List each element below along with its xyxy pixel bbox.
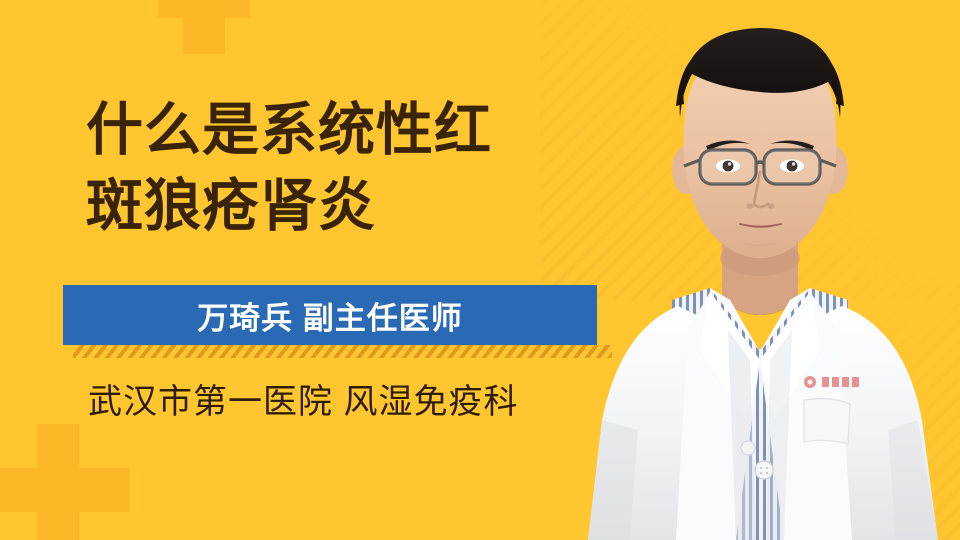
cross-vertical-bar xyxy=(183,0,225,54)
banner-hatch-decoration xyxy=(73,345,612,358)
hospital-logo-on-coat xyxy=(804,376,859,388)
page-title: 什么是系统性红 斑狼疮肾炎 xyxy=(86,92,606,244)
doctor-name-text: 万琦兵 副主任医师 xyxy=(197,293,463,338)
cross-horizontal-bar xyxy=(0,468,130,512)
diagonal-stripes-decoration-lower xyxy=(760,240,960,540)
title-line-1: 什么是系统性红 xyxy=(86,92,606,168)
video-cover-slide: 什么是系统性红 斑狼疮肾炎 万琦兵 副主任医师 武汉市第一医院 风湿免疫科 xyxy=(0,0,960,540)
medical-cross-icon-top xyxy=(158,0,250,54)
doctor-name-banner: 万琦兵 副主任医师 xyxy=(63,285,597,345)
medical-cross-icon-bottom xyxy=(0,424,130,540)
eyeglasses xyxy=(684,150,836,184)
hospital-department-text: 武汉市第一医院 风湿免疫科 xyxy=(88,374,518,423)
doctor-portrait-photo xyxy=(560,0,960,540)
cross-horizontal-bar xyxy=(158,0,250,18)
cross-vertical-bar xyxy=(37,424,79,540)
title-line-2: 斑狼疮肾炎 xyxy=(86,168,606,244)
